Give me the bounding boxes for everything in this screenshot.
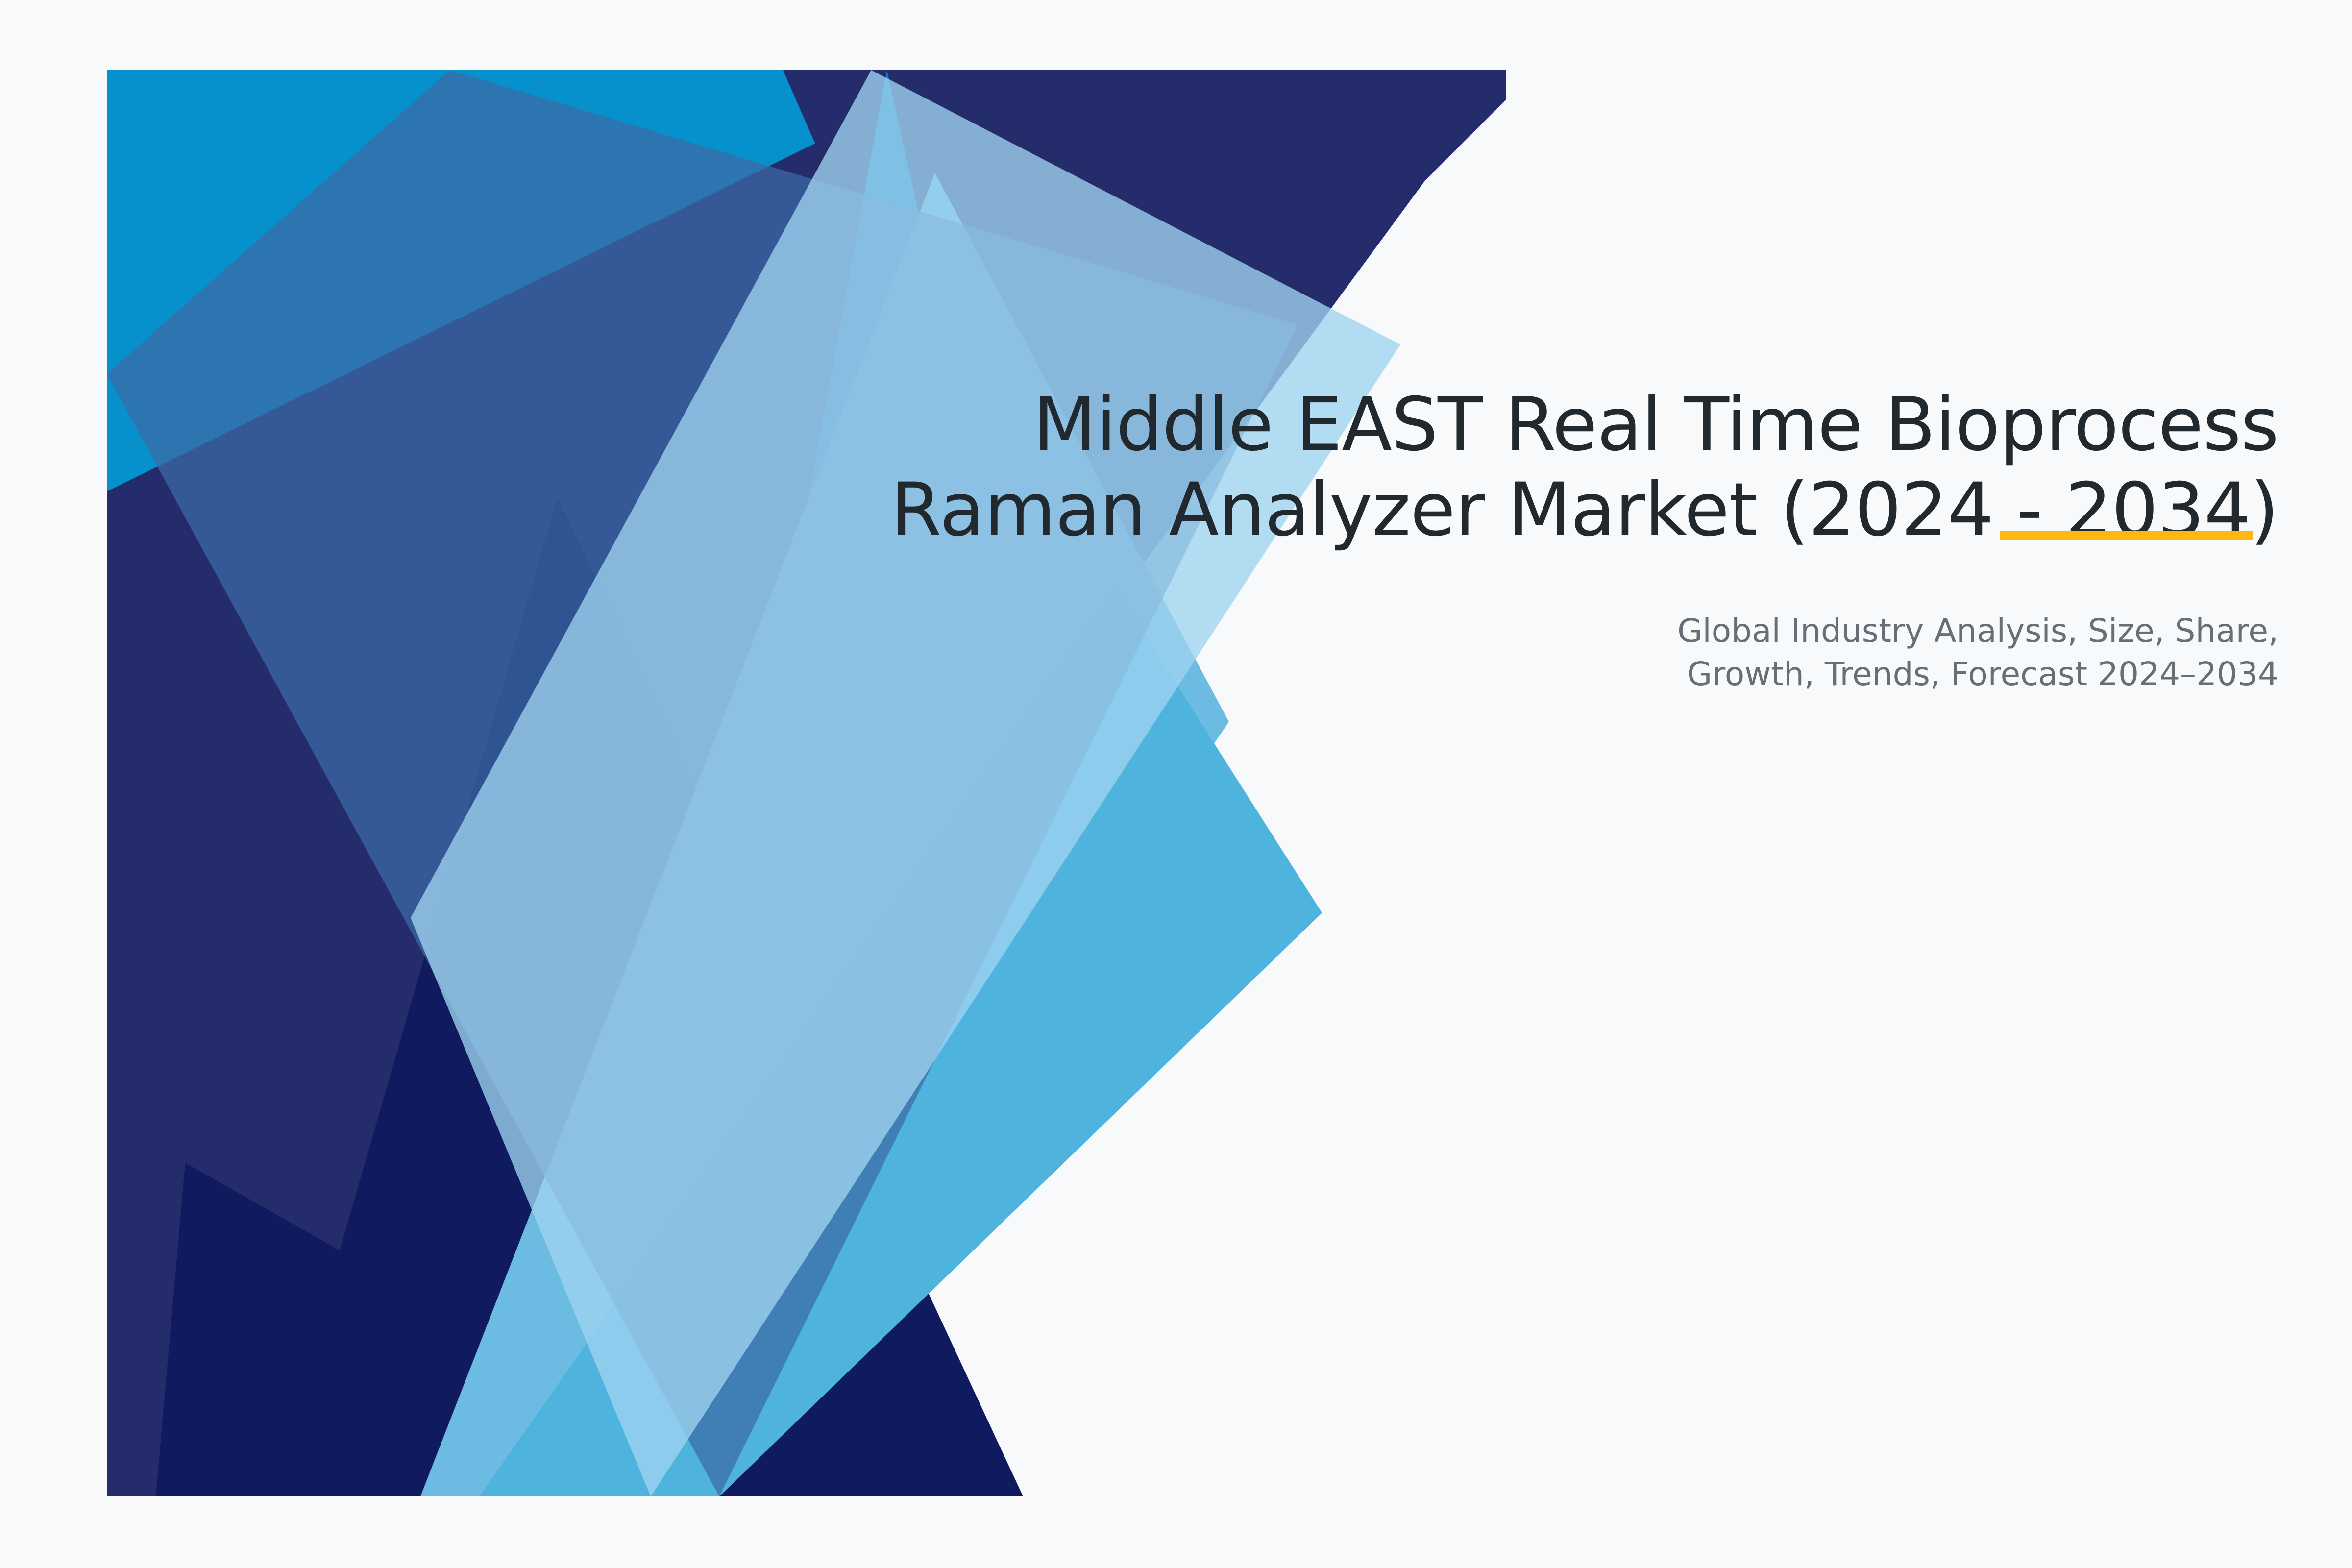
cover-text-block: Middle EAST Real Time Bioprocess Raman A… (759, 382, 2278, 696)
title-line-1: Middle EAST Real Time Bioprocess (759, 382, 2278, 467)
page-title: Middle EAST Real Time Bioprocess Raman A… (759, 382, 2278, 553)
subtitle-line-2: Growth, Trends, Forecast 2024–2034 (759, 653, 2278, 696)
report-cover-page: Middle EAST Real Time Bioprocess Raman A… (0, 0, 2352, 1568)
artwork-svg (107, 70, 1506, 1496)
title-accent-underline (2000, 531, 2253, 540)
abstract-geometric-artwork (107, 70, 1506, 1496)
cover-subtitle: Global Industry Analysis, Size, Share, G… (759, 610, 2278, 696)
subtitle-line-1: Global Industry Analysis, Size, Share, (759, 610, 2278, 653)
